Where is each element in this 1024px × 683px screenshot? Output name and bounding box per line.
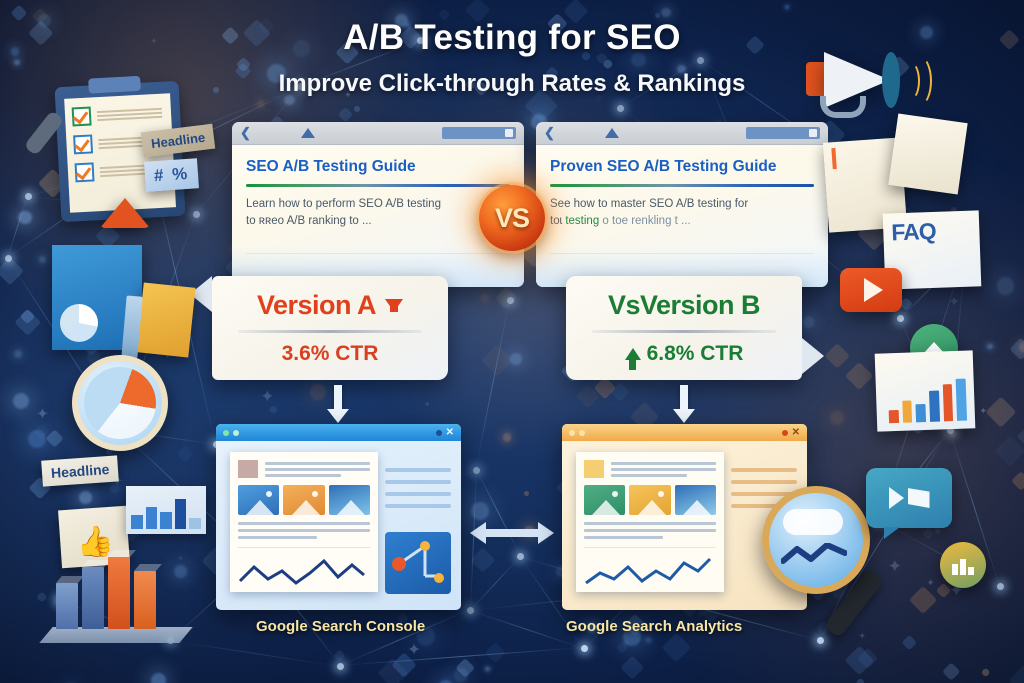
back-chevron-icon[interactable]: ❮ bbox=[544, 125, 555, 141]
background-diamond bbox=[621, 656, 645, 680]
arrow-head-left bbox=[470, 522, 486, 544]
caption-google-search-analytics: Google Search Analytics bbox=[566, 618, 742, 635]
background-sparkle: ✦ bbox=[926, 579, 935, 589]
preview-line-chart bbox=[238, 547, 370, 594]
background-bokeh bbox=[661, 8, 671, 18]
background-bokeh bbox=[624, 641, 628, 645]
background-diamond bbox=[994, 435, 1024, 466]
background-bokeh bbox=[151, 673, 167, 683]
network-node bbox=[997, 583, 1004, 590]
serp-snippet-line-2: toɩ testing ᴏ toe renkling t ... bbox=[550, 213, 814, 230]
network-node bbox=[193, 211, 200, 218]
background-diamond bbox=[353, 105, 362, 114]
background-diamond bbox=[338, 107, 353, 122]
flag-glyph bbox=[908, 488, 930, 508]
network-node bbox=[697, 57, 704, 64]
preview-header bbox=[238, 460, 370, 478]
network-node bbox=[25, 193, 32, 200]
background-diamond bbox=[985, 397, 1016, 428]
network-node bbox=[507, 297, 514, 304]
logo-placeholder bbox=[584, 460, 604, 478]
background-sparkle: ✦ bbox=[36, 407, 49, 423]
background-diamond bbox=[45, 430, 64, 449]
header-lines bbox=[611, 460, 716, 478]
background-diamond bbox=[594, 377, 616, 399]
tag-headline-bottom: Headline bbox=[41, 455, 119, 486]
background-diamond bbox=[1016, 421, 1024, 451]
background-sparkle: ✦ bbox=[979, 407, 987, 417]
version-a-banner: Version A 3.6% CTR bbox=[212, 276, 448, 380]
faq-label: FAQ bbox=[891, 219, 972, 245]
document-card-2 bbox=[888, 113, 967, 194]
background-diamond bbox=[981, 668, 991, 678]
arrow-head bbox=[327, 409, 349, 423]
browser-toolbar: ❮ bbox=[232, 122, 524, 145]
background-bokeh bbox=[14, 60, 20, 66]
tile-image-2 bbox=[629, 485, 670, 515]
window-dot-blue bbox=[436, 430, 442, 436]
serp-heading[interactable]: Proven SEO A/B Testing Guide bbox=[550, 158, 814, 176]
network-node bbox=[897, 315, 904, 322]
background-diamond bbox=[392, 652, 418, 678]
bar-chart-bars bbox=[888, 379, 967, 424]
version-b-ctr-value: 6.8% CTR bbox=[647, 342, 744, 366]
preview-header bbox=[584, 460, 716, 478]
infographic-canvas: ✦✦✦✦✦✦✦✦✦✦✦✦✦✦✦✦✦✦✦✦✦✦✦✦✦✦ A/B Testing f… bbox=[0, 0, 1024, 683]
background-bokeh bbox=[39, 256, 46, 263]
window-dot-green bbox=[223, 430, 229, 436]
play-glyph bbox=[889, 487, 904, 509]
background-diamond bbox=[610, 382, 630, 402]
version-b-heading: VsVersion B bbox=[608, 290, 760, 321]
background-bokeh bbox=[785, 5, 789, 9]
preview-tiles bbox=[584, 485, 716, 515]
speech-bubble-icon bbox=[866, 468, 952, 528]
tile-image-1 bbox=[238, 485, 279, 515]
background-bokeh bbox=[936, 529, 939, 532]
background-sparkle: ✦ bbox=[260, 388, 274, 405]
serp-snippet-line-1: Learn how to perform SEO A/B testing bbox=[246, 196, 510, 213]
tile-image-1 bbox=[584, 485, 625, 515]
background-diamond bbox=[32, 424, 49, 441]
network-node bbox=[337, 663, 344, 670]
background-diamond bbox=[481, 344, 513, 376]
bar-chart-card bbox=[875, 350, 976, 431]
background-diamond bbox=[36, 592, 47, 603]
serp-snippet-line-1: See how to master SEO A/B testing for bbox=[550, 196, 814, 213]
serp-divider bbox=[246, 184, 510, 187]
tag-hash-percent: # % bbox=[144, 158, 199, 192]
background-bokeh bbox=[13, 393, 29, 409]
background-diamond bbox=[378, 657, 409, 683]
network-node bbox=[473, 467, 480, 474]
page-preview bbox=[576, 452, 724, 592]
background-bokeh bbox=[454, 668, 468, 682]
background-bokeh bbox=[803, 316, 815, 328]
bar-chart-3d-illustration bbox=[52, 548, 182, 643]
background-bokeh bbox=[110, 483, 120, 493]
background-diamond bbox=[942, 662, 960, 680]
background-diamond bbox=[902, 634, 917, 649]
background-diamond bbox=[485, 642, 506, 663]
background-bokeh bbox=[471, 502, 489, 520]
megaphone-handle bbox=[820, 96, 866, 118]
background-diamond bbox=[455, 658, 475, 678]
background-diamond bbox=[19, 309, 34, 324]
network-node bbox=[467, 607, 474, 614]
network-line bbox=[470, 556, 521, 611]
snippet-highlight: testing bbox=[565, 215, 599, 227]
caption-google-search-console: Google Search Console bbox=[256, 618, 425, 635]
window-dot-light bbox=[233, 430, 239, 436]
vs-badge: VS bbox=[479, 185, 545, 251]
line-chart-svg bbox=[238, 555, 368, 589]
background-diamond bbox=[14, 309, 41, 336]
background-bokeh bbox=[503, 433, 511, 441]
window-titlebar: ✕ bbox=[216, 424, 461, 441]
triangle-marker-icon bbox=[100, 198, 150, 228]
serp-card-version-b[interactable]: ❮ Proven SEO A/B Testing Guide See how t… bbox=[536, 122, 828, 287]
background-bokeh bbox=[485, 667, 489, 671]
background-diamond bbox=[1011, 471, 1024, 491]
background-bokeh bbox=[14, 350, 22, 358]
tile-image-3 bbox=[329, 485, 370, 515]
background-diamond bbox=[857, 648, 879, 670]
version-b-banner: VsVersion B 6.8% CTR bbox=[566, 276, 802, 380]
background-diamond bbox=[1008, 664, 1024, 683]
banner-divider bbox=[592, 330, 776, 333]
preview-tiles bbox=[238, 485, 370, 515]
background-bokeh bbox=[830, 411, 844, 425]
flow-arrow-down-left bbox=[330, 385, 346, 423]
ribbon-tail bbox=[802, 338, 824, 374]
arrow-shaft bbox=[680, 385, 688, 409]
banner-divider bbox=[238, 330, 422, 333]
background-diamond bbox=[575, 384, 600, 409]
network-node bbox=[581, 645, 588, 652]
background-sparkle: ✦ bbox=[858, 632, 866, 642]
serp-heading[interactable]: SEO A/B Testing Guide bbox=[246, 158, 510, 176]
background-diamond bbox=[922, 527, 934, 539]
arrow-up-icon bbox=[625, 348, 641, 360]
mini-bar-chart-card bbox=[126, 486, 206, 534]
background-sparkle: ✦ bbox=[424, 400, 431, 408]
page-preview bbox=[230, 452, 378, 592]
preview-body-lines bbox=[238, 522, 370, 539]
compare-arrow-double bbox=[470, 522, 554, 544]
background-diamond bbox=[856, 678, 865, 683]
version-b-ctr: 6.8% CTR bbox=[625, 342, 744, 366]
magnifier-analytics-icon bbox=[762, 486, 870, 594]
checklist-row bbox=[72, 102, 172, 126]
tile-image-2 bbox=[283, 485, 324, 515]
line-chart-svg bbox=[584, 555, 714, 589]
background-diamond bbox=[845, 362, 874, 391]
bar-glyph bbox=[951, 555, 975, 575]
background-diamond bbox=[177, 445, 194, 462]
background-diamond bbox=[603, 58, 614, 69]
close-icon[interactable]: ✕ bbox=[446, 427, 454, 438]
triangle-icon bbox=[605, 128, 619, 138]
window-dot-1 bbox=[569, 430, 575, 436]
node-diagram-panel bbox=[385, 532, 451, 594]
megaphone-icon bbox=[806, 52, 898, 108]
arrow-shaft bbox=[484, 529, 540, 537]
arrow-down-icon bbox=[385, 299, 403, 312]
background-bokeh bbox=[997, 277, 1015, 295]
background-bokeh bbox=[646, 638, 650, 642]
bar-4 bbox=[134, 571, 156, 629]
background-diamond bbox=[909, 586, 937, 614]
back-chevron-icon[interactable]: ❮ bbox=[240, 125, 251, 141]
tile-image-3 bbox=[675, 485, 716, 515]
serp-body: Proven SEO A/B Testing Guide See how to … bbox=[536, 145, 828, 230]
serp-divider bbox=[550, 184, 814, 187]
arrow-head-right bbox=[538, 522, 554, 544]
address-pill[interactable] bbox=[746, 127, 820, 139]
background-diamond bbox=[268, 405, 277, 414]
background-diamond bbox=[617, 641, 629, 653]
megaphone-mouth bbox=[882, 52, 900, 108]
magnifier-pie-icon bbox=[72, 355, 168, 451]
network-node bbox=[5, 255, 12, 262]
snippet-pre: toɩ bbox=[550, 215, 565, 227]
flow-arrow-down-right bbox=[676, 385, 692, 423]
background-diamond bbox=[935, 583, 950, 598]
play-button-icon[interactable] bbox=[840, 268, 902, 312]
background-diamond bbox=[494, 286, 517, 309]
version-a-ctr: 3.6% CTR bbox=[282, 342, 379, 366]
preview-body-lines bbox=[584, 522, 716, 539]
background-bokeh bbox=[28, 430, 46, 448]
background-diamond bbox=[662, 633, 691, 662]
triangle-icon bbox=[301, 128, 315, 138]
background-bokeh bbox=[79, 491, 92, 504]
background-diamond bbox=[333, 649, 346, 662]
background-diamond bbox=[844, 645, 874, 675]
logo-placeholder bbox=[238, 460, 258, 478]
background-diamond bbox=[470, 547, 495, 572]
window-dot-2 bbox=[579, 430, 585, 436]
doc-image-glyph bbox=[831, 148, 836, 169]
window-titlebar: ✕ bbox=[562, 424, 807, 441]
checkbox-checked-icon bbox=[75, 162, 95, 182]
checkbox-checked-icon bbox=[73, 134, 93, 154]
chart-base bbox=[39, 627, 192, 643]
magnifier-cloud bbox=[783, 509, 843, 535]
background-bokeh bbox=[987, 344, 992, 349]
serp-snippet: See how to master SEO A/B testing for to… bbox=[550, 196, 814, 231]
version-a-ctr-value: 3.6% CTR bbox=[282, 342, 379, 366]
header-lines bbox=[265, 460, 370, 478]
version-a-heading: Version A bbox=[257, 290, 403, 321]
folder-illustration bbox=[136, 282, 195, 357]
browser-toolbar: ❮ bbox=[536, 122, 828, 145]
background-bokeh bbox=[510, 353, 522, 365]
close-icon[interactable]: ✕ bbox=[792, 427, 800, 438]
background-bokeh bbox=[1019, 342, 1024, 351]
magnifier-trend-line bbox=[781, 543, 847, 565]
background-sparkle: ✦ bbox=[948, 295, 959, 309]
version-b-label: VsVersion B bbox=[608, 290, 760, 321]
network-node bbox=[617, 105, 624, 112]
background-bokeh bbox=[18, 211, 32, 225]
node-diagram-svg bbox=[385, 532, 451, 594]
bar-3 bbox=[108, 557, 130, 629]
serp-snippet-line-2: to ʀʀeo A/B ranking to ... bbox=[246, 213, 510, 230]
pie-wedge bbox=[84, 367, 156, 439]
background-bokeh bbox=[310, 384, 325, 399]
network-line bbox=[475, 300, 510, 470]
arrow-shaft bbox=[334, 385, 342, 409]
arrow-head bbox=[673, 409, 695, 423]
background-diamond bbox=[0, 256, 24, 284]
background-diamond bbox=[1010, 338, 1024, 360]
network-line bbox=[7, 196, 28, 258]
background-sparkle: ✦ bbox=[888, 558, 903, 576]
background-bokeh bbox=[257, 100, 265, 108]
sidebar-lines bbox=[385, 468, 451, 508]
bar-1 bbox=[56, 583, 78, 629]
address-pill[interactable] bbox=[442, 127, 516, 139]
background-sparkle: ✦ bbox=[407, 642, 421, 659]
snippet-post: ᴏ toe renkling t ... bbox=[599, 215, 690, 227]
sound-wave-2 bbox=[908, 56, 932, 106]
version-a-label: Version A bbox=[257, 290, 376, 321]
background-diamond bbox=[522, 490, 529, 497]
pie-chart-icon bbox=[60, 304, 98, 342]
network-node bbox=[517, 553, 524, 560]
checkbox-checked-icon bbox=[72, 106, 92, 126]
network-node bbox=[817, 637, 824, 644]
background-bokeh bbox=[949, 430, 956, 437]
serp-card-version-a[interactable]: ❮ SEO A/B Testing Guide Learn how to per… bbox=[232, 122, 524, 287]
serp-snippet: Learn how to perform SEO A/B testing to … bbox=[246, 196, 510, 231]
clipboard-clamp bbox=[88, 76, 141, 94]
background-bokeh bbox=[481, 293, 489, 301]
dashboard-window-console[interactable]: ✕ bbox=[216, 424, 461, 610]
preview-line-chart bbox=[584, 547, 716, 594]
window-dot-red bbox=[782, 430, 788, 436]
bar-2 bbox=[82, 567, 104, 629]
background-diamond bbox=[824, 344, 850, 370]
network-line bbox=[340, 647, 584, 666]
network-line bbox=[170, 640, 340, 667]
circle-icon-chart-gold bbox=[940, 542, 986, 588]
